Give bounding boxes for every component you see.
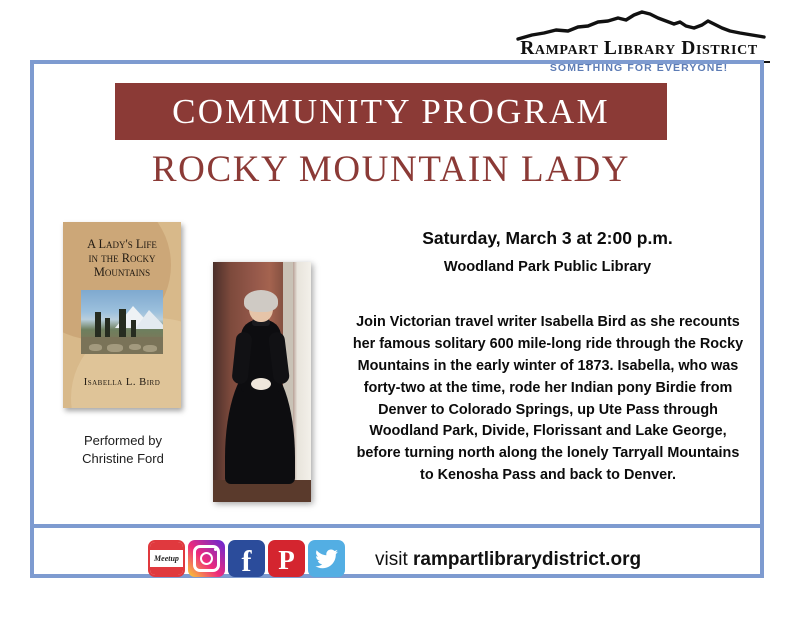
book-cover-photo — [81, 290, 163, 354]
meetup-label: Meetup — [154, 554, 179, 563]
twitter-bird-glyph — [315, 549, 339, 569]
rock-shape — [89, 344, 102, 351]
book-cover: A Lady's Life in the Rocky Mountains Isa… — [63, 222, 181, 408]
visit-label: visit — [375, 549, 413, 570]
performed-by-label: Performed by — [48, 432, 198, 450]
meetup-icon[interactable]: Meetup — [148, 540, 185, 577]
performer-photo — [213, 262, 311, 502]
facebook-icon[interactable]: f — [228, 540, 265, 577]
rock-shape — [129, 344, 141, 350]
book-title-line-1: A Lady's Life — [69, 238, 175, 252]
pinterest-p-glyph: P — [278, 547, 295, 574]
instagram-lens-shape — [200, 552, 213, 565]
rock-shape — [107, 344, 123, 352]
performer-credit: Performed by Christine Ford — [48, 432, 198, 469]
hands — [251, 378, 271, 390]
mountain-peak-icon — [135, 310, 163, 329]
instagram-icon[interactable] — [188, 540, 225, 577]
rock-shape — [143, 345, 157, 352]
pinterest-icon[interactable]: P — [268, 540, 305, 577]
facebook-f-glyph: f — [242, 547, 252, 577]
banner-title: COMMUNITY PROGRAM — [172, 92, 610, 132]
book-author: Isabella L. Bird — [67, 377, 177, 388]
hair — [244, 290, 278, 312]
twitter-icon[interactable] — [308, 540, 345, 577]
social-links: Meetup f P — [148, 540, 345, 577]
event-date: Saturday, March 3 at 2:00 p.m. — [345, 228, 750, 249]
community-program-banner: COMMUNITY PROGRAM — [115, 83, 667, 140]
book-title-line-2: in the Rocky — [69, 252, 175, 266]
book-title: A Lady's Life in the Rocky Mountains — [69, 238, 175, 280]
event-location: Woodland Park Public Library — [345, 259, 750, 275]
website-line[interactable]: visit rampartlibrarydistrict.org — [375, 549, 641, 571]
footer-divider — [30, 524, 764, 528]
program-subtitle: Rocky Mountain Lady — [115, 148, 667, 191]
rocky-foreground — [81, 337, 163, 354]
website-url[interactable]: rampartlibrarydistrict.org — [413, 549, 641, 570]
event-description: Join Victorian travel writer Isabella Bi… — [348, 312, 748, 487]
mountain-ridge-icon — [516, 8, 766, 42]
book-title-line-3: Mountains — [69, 266, 175, 280]
performer-name: Christine Ford — [48, 450, 198, 468]
instagram-flash-dot — [214, 548, 217, 551]
